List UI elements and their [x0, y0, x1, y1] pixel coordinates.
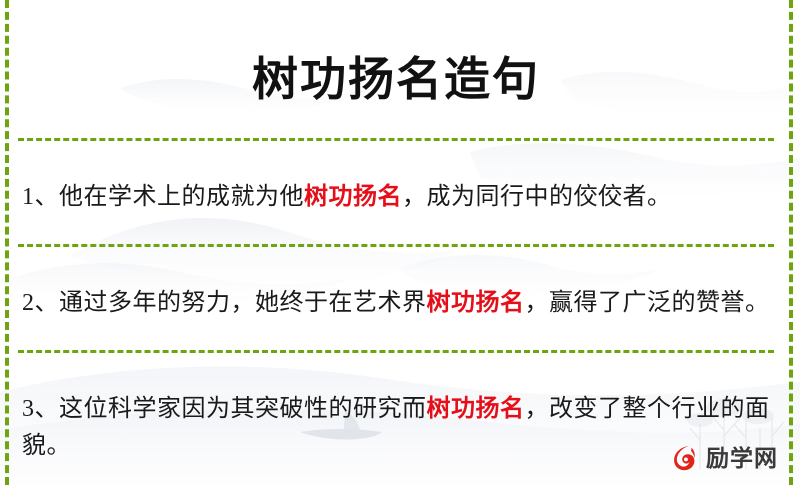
sentence-1-highlight: 树功扬名 [304, 184, 402, 210]
sentence-1-before: 他在学术上的成就为他 [59, 184, 304, 210]
flame-swoosh-icon [670, 443, 700, 473]
content-column: 树功扬名造句 1、他在学术上的成就为他树功扬名，成为同行中的佼佼者。 2、通过多… [0, 31, 800, 485]
sentence-1-after: ，成为同行中的佼佼者。 [402, 184, 672, 210]
sentence-2-after: ，赢得了广泛的赞誉。 [525, 290, 770, 316]
page-title: 树功扬名造句 [18, 31, 774, 107]
divider-after-sentence-2 [18, 350, 774, 353]
sentence-2-before: 通过多年的努力，她终于在艺术界 [59, 290, 427, 316]
divider-top [18, 138, 774, 141]
left-dashed-rail [5, 0, 9, 485]
sentence-3-highlight: 树功扬名 [427, 396, 525, 422]
right-dashed-rail [789, 0, 793, 485]
example-sentence-3: 3、这位科学家因为其突破性的研究而树功扬名，改变了整个行业的面貌。 [18, 377, 774, 469]
divider-after-sentence-1 [18, 244, 774, 247]
example-sentence-1: 1、他在学术上的成就为他树功扬名，成为同行中的佼佼者。 [18, 165, 774, 220]
sentence-3-index: 3、 [22, 396, 59, 422]
sentence-2-highlight: 树功扬名 [427, 290, 525, 316]
sentence-2-index: 2、 [22, 290, 59, 316]
sentence-example-page: 树功扬名造句 1、他在学术上的成就为他树功扬名，成为同行中的佼佼者。 2、通过多… [0, 0, 800, 485]
site-logo: 励学网 [670, 443, 778, 473]
sentence-3-before: 这位科学家因为其突破性的研究而 [59, 396, 427, 422]
site-logo-text: 励学网 [706, 447, 778, 470]
sentence-1-index: 1、 [22, 184, 59, 210]
example-sentence-2: 2、通过多年的努力，她终于在艺术界树功扬名，赢得了广泛的赞誉。 [18, 271, 774, 326]
